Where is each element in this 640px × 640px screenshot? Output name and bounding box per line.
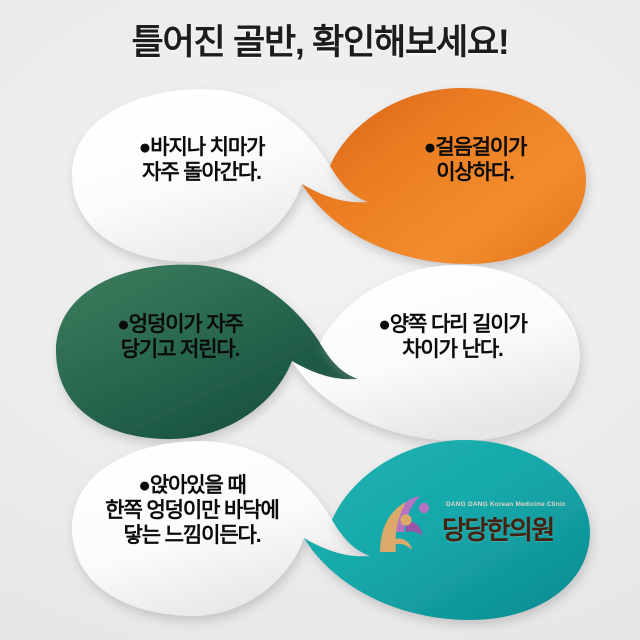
clinic-name-kr: 당당한의원 [442,510,566,547]
clinic-logo-mark-icon [378,492,436,556]
poster-canvas: 틀어진 골반, 확인해보세요! [0,0,640,640]
item-5-text: ●앉아있을 때 한쪽 엉덩이만 바닥에 닿는 느낌이든다. [62,474,322,548]
clinic-name-en: DANG DANG Korean Medicine Clinic [446,501,566,508]
item-4-text: ●양쪽 다리 길이가 차이가 난다. [330,313,575,363]
drop-row-3: ●앉아있을 때 한쪽 엉덩이만 바닥에 닿는 느낌이든다. DANG DANG … [0,432,640,627]
item-1-text: ●바지나 치마가 자주 돌아간다. [84,136,319,186]
clinic-logo[interactable]: DANG DANG Korean Medicine Clinic 당당한의원 [378,484,578,564]
page-title: 틀어진 골반, 확인해보세요! [0,14,640,65]
drop-row-1: ●바지나 치마가 자주 돌아간다. ●걸음걸이가 이상하다. [0,78,640,273]
drop-row-2: ●엉덩이가 자주 당기고 저린다. ●양쪽 다리 길이가 차이가 난다. [0,255,640,450]
clinic-logo-text: DANG DANG Korean Medicine Clinic 당당한의원 [442,501,566,547]
item-2-text: ●걸음걸이가 이상하다. [365,136,585,186]
item-3-text: ●엉덩이가 자주 당기고 저린다. [60,313,300,363]
